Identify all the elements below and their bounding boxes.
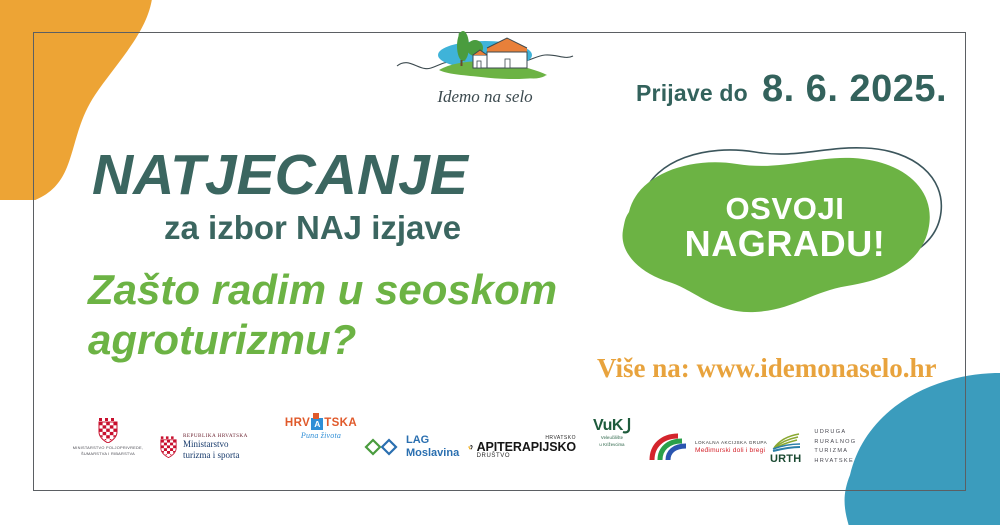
vuk-sub-2: u Križevcima xyxy=(599,442,624,448)
urth-line-3: TURIZMA xyxy=(814,447,856,457)
deadline-date: 8. 6. 2025. xyxy=(762,68,947,111)
partner-logo-urth: URTH UDRUGA RURALNOG TURIZMA HRVATSKE xyxy=(770,418,888,476)
idemo-na-selo-logo: Idemo na selo xyxy=(395,22,575,110)
mint-line-1: Ministarstvo xyxy=(183,439,248,450)
partner-logo-hrvatska-puna-zivota: HRV A TSKA Puna života xyxy=(278,418,364,476)
vuk-wordmark: VuK xyxy=(593,418,631,434)
partner-logo-strip: MINISTARSTVO POLJOPRIVREDE, ŠUMARSTVA I … xyxy=(56,416,906,478)
lag-medimurski-text: LOKALNA AKCIJSKA GRUPA Međimurski doli i… xyxy=(695,440,767,454)
lagm-main-label: Međimurski doli i bregi xyxy=(695,447,767,454)
vuk-letters: VuK xyxy=(593,418,623,434)
brand-wordmark: Idemo na selo xyxy=(436,87,532,106)
vuk-sub-1: Veleučilište xyxy=(601,435,623,441)
hpz-word-right: TSKA xyxy=(324,418,357,430)
api-main-label: APITERAPIJSKO xyxy=(477,441,576,454)
partner-logo-ministarstvo-poljoprivrede: MINISTARSTVO POLJOPRIVREDE, ŠUMARSTVA I … xyxy=(56,418,160,476)
lagm-top-label: LOKALNA AKCIJSKA GRUPA xyxy=(695,440,767,445)
hpz-tagline: Puna života xyxy=(301,431,341,440)
promo-banner: Idemo na selo Prijave do 8. 6. 2025. NAT… xyxy=(0,0,1000,525)
urth-line-2: RURALNOG xyxy=(814,438,856,448)
prize-blob-graphic xyxy=(615,138,955,318)
mint-line-2: turizma i sporta xyxy=(183,450,248,461)
vuk-bracket-icon xyxy=(620,418,631,434)
partner-logo-lag-moslavina: LAG Moslavina xyxy=(364,418,468,476)
tricolor-arcs-icon xyxy=(648,432,690,462)
headline-subtitle: za izbor NAJ izjave xyxy=(164,210,612,246)
api-sub-label: DRUŠTVO xyxy=(477,453,576,459)
urth-text: UDRUGA RURALNOG TURIZMA HRVATSKE xyxy=(814,428,856,466)
hpz-word-left: HRV xyxy=(285,418,310,430)
urth-field-icon xyxy=(771,430,801,452)
urth-line-1: UDRUGA xyxy=(814,428,856,438)
apiterapijsko-text: HRVATSKO APITERAPIJSKO DRUŠTVO xyxy=(477,435,576,460)
partner-logo-veleuciliste-krizevci: VuK Veleučilište u Križevcima xyxy=(576,418,648,476)
ministarstvo-poljoprivrede-text: MINISTARSTVO POLJOPRIVREDE, ŠUMARSTVA I … xyxy=(73,445,143,456)
deadline-prefix: Prijave do xyxy=(636,80,748,107)
contest-question: Zašto radim u seoskom agroturizmu? xyxy=(88,265,628,364)
website-link[interactable]: Više na: www.idemonaselo.hr xyxy=(597,353,937,384)
croatian-coat-of-arms-icon xyxy=(98,418,118,443)
partner-logo-lag-medimurski: LOKALNA AKCIJSKA GRUPA Međimurski doli i… xyxy=(648,418,770,476)
partner-logo-apiterapijsko-drustvo: HRVATSKO APITERAPIJSKO DRUŠTVO xyxy=(468,418,576,476)
croatian-coat-of-arms-icon xyxy=(160,436,177,458)
ministarstvo-turizma-text: REPUBLIKA HRVATSKA Ministarstvo turizma … xyxy=(183,433,248,460)
lag-diamonds-icon xyxy=(364,437,400,457)
headline-title: NATJECANJE xyxy=(92,146,612,204)
application-deadline: Prijave do 8. 6. 2025. xyxy=(636,68,947,111)
headline-block: NATJECANJE za izbor NAJ izjave xyxy=(92,146,612,246)
mps-line-2: ŠUMARSTVA I RIBARSTVA xyxy=(73,451,143,457)
lag-line-1: LAG xyxy=(406,434,459,447)
urth-line-4: HRVATSKE xyxy=(814,457,856,467)
urth-wordmark: URTH xyxy=(770,453,801,465)
hpz-wordmark: HRV A TSKA xyxy=(285,418,357,430)
hpz-boxed-letter-icon: A xyxy=(311,418,323,430)
hpz-boxed-letter: A xyxy=(314,420,321,429)
lag-line-2: Moslavina xyxy=(406,447,459,460)
bee-honeycomb-icon xyxy=(468,433,473,461)
lag-moslavina-text: LAG Moslavina xyxy=(406,434,459,459)
partner-logo-ministarstvo-turizma: REPUBLIKA HRVATSKA Ministarstvo turizma … xyxy=(160,418,278,476)
